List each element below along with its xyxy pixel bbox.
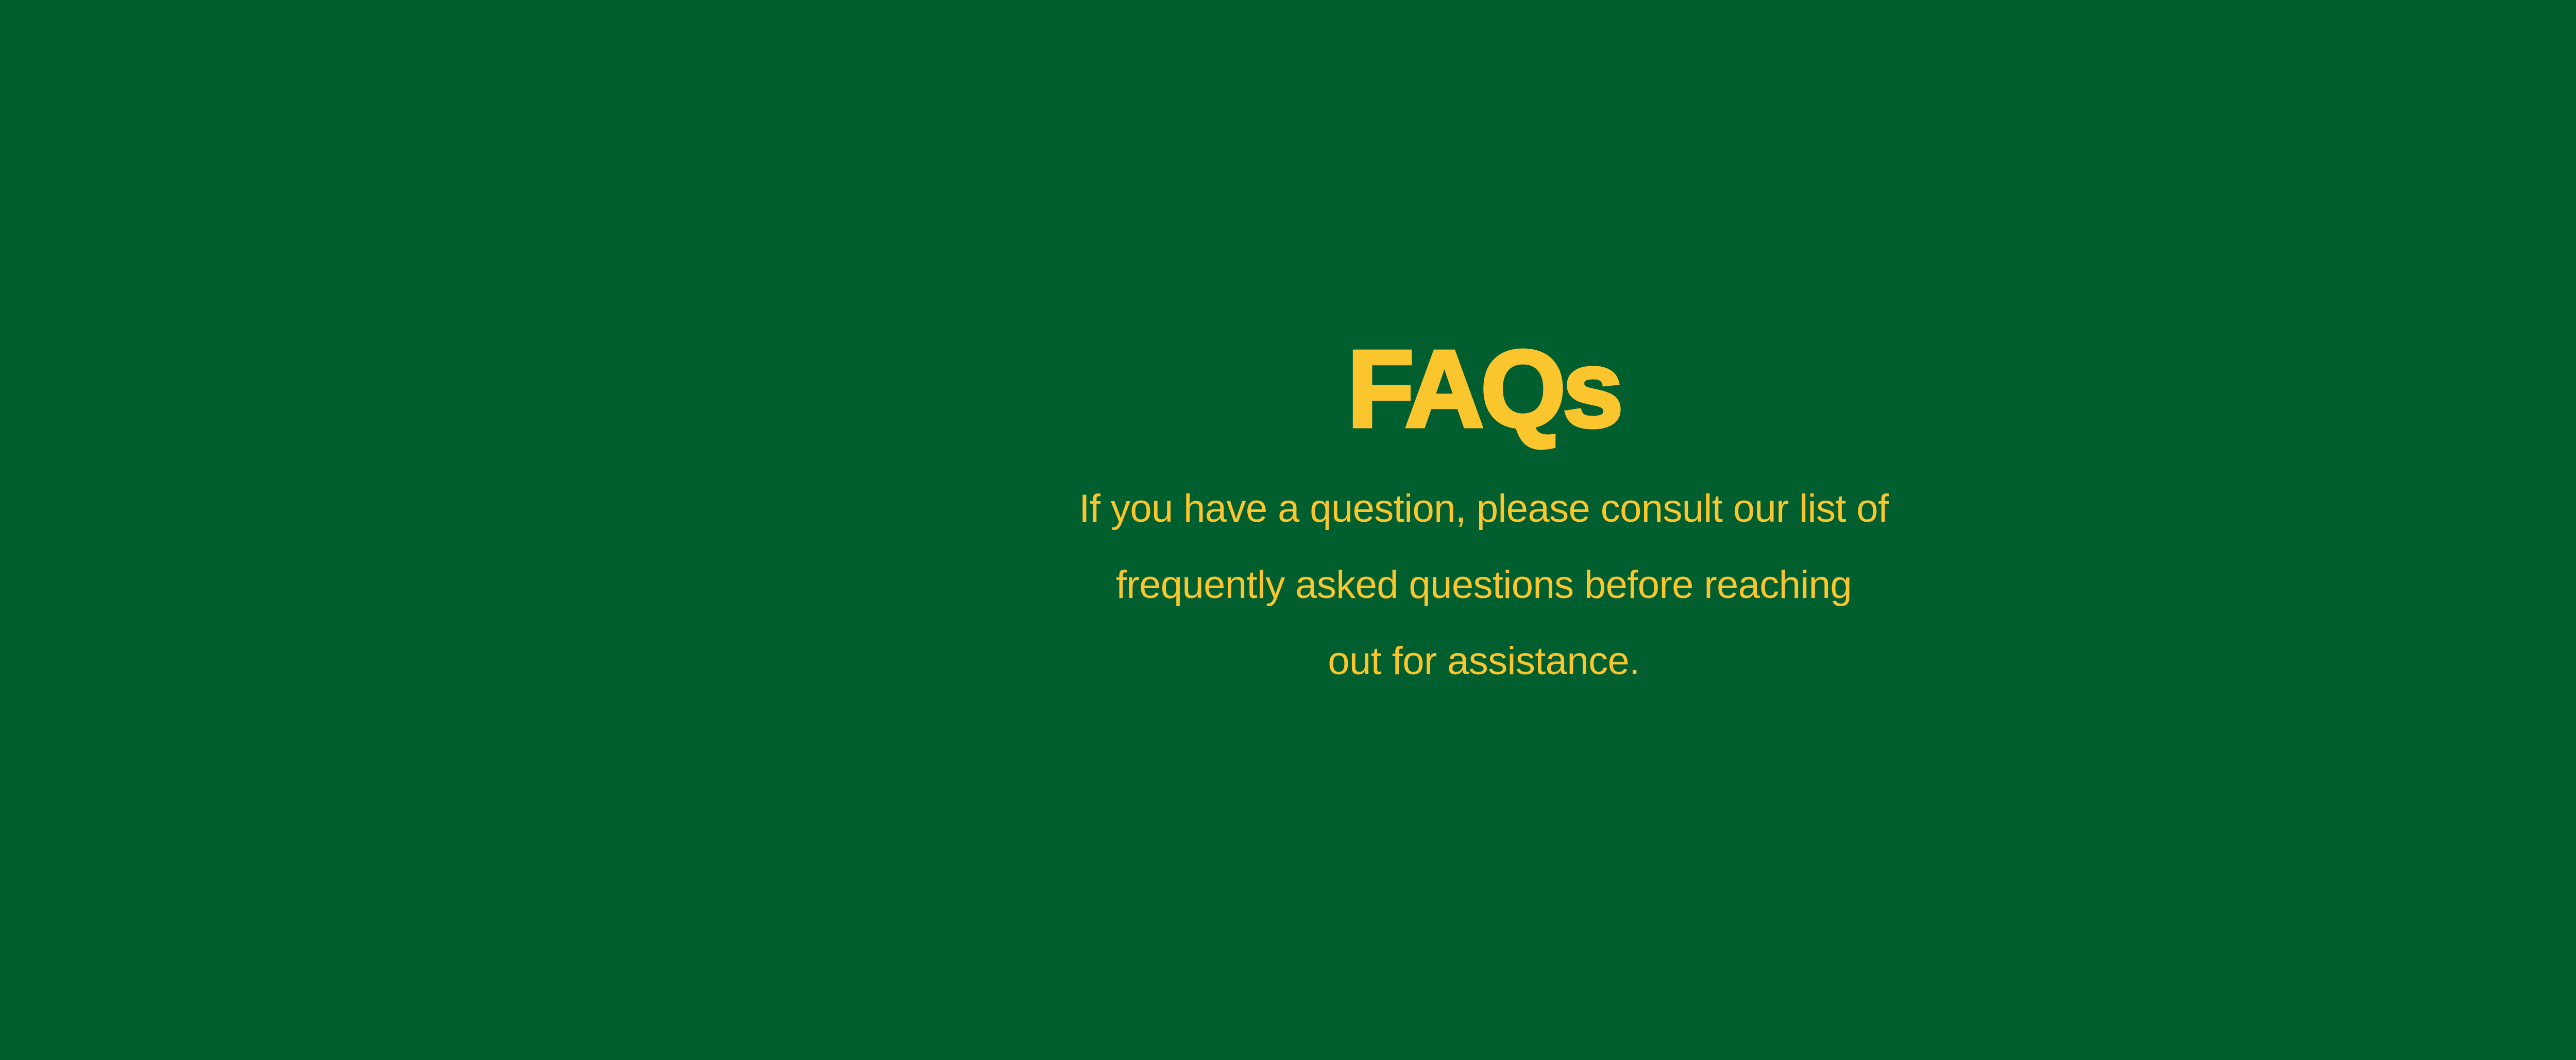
faq-hero-section: FAQs If you have a question, please cons… xyxy=(0,0,2576,1060)
hero-text-block: FAQs If you have a question, please cons… xyxy=(711,330,2257,699)
hero-description-line-2: frequently asked questions before reachi… xyxy=(711,547,2257,623)
page-title: FAQs xyxy=(711,330,2257,448)
hero-description-line-3: out for assistance. xyxy=(711,623,2257,699)
hero-description: If you have a question, please consult o… xyxy=(711,471,2257,699)
hero-description-line-1: If you have a question, please consult o… xyxy=(711,471,2257,547)
